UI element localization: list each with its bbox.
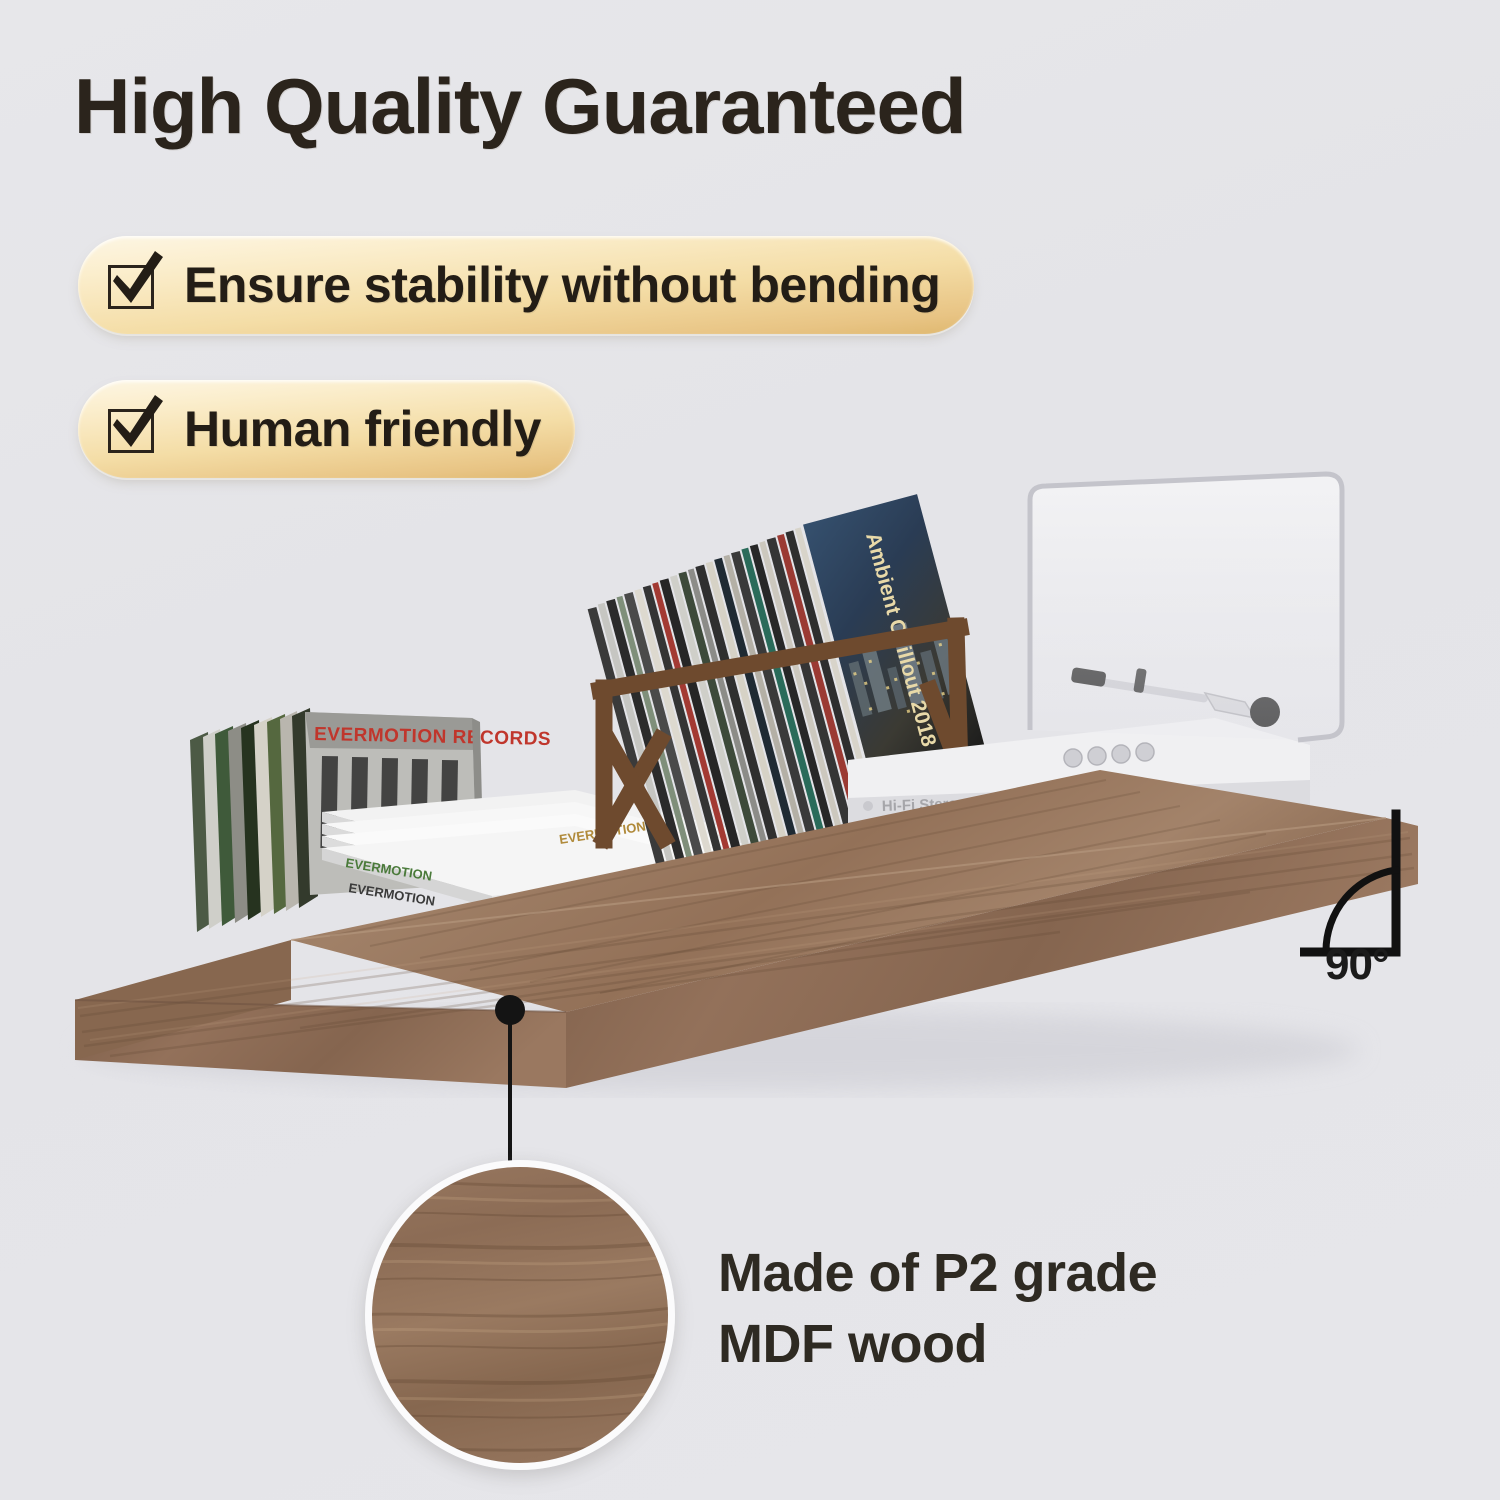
angle-value-label: 90°	[1325, 940, 1389, 990]
page-title: High Quality Guaranteed	[74, 66, 965, 148]
callout-line-1: Made of P2 grade	[718, 1238, 1157, 1309]
product-scene: EVERMOTION RECORDS EV	[0, 440, 1500, 1120]
feature-pill-stability: Ensure stability without bending	[78, 236, 974, 334]
wood-grain-detail	[365, 1160, 675, 1470]
wood-detail-magnifier	[365, 1160, 675, 1470]
feature-pill-label: Ensure stability without bending	[184, 256, 940, 314]
callout-text: Made of P2 grade MDF wood	[718, 1238, 1157, 1381]
checkbox-checked-icon	[106, 259, 162, 311]
callout-leader-line	[508, 1005, 512, 1165]
callout-line-2: MDF wood	[718, 1309, 1157, 1380]
floating-shelf-illustration: EVERMOTION RECORDS EV	[0, 440, 1500, 1120]
